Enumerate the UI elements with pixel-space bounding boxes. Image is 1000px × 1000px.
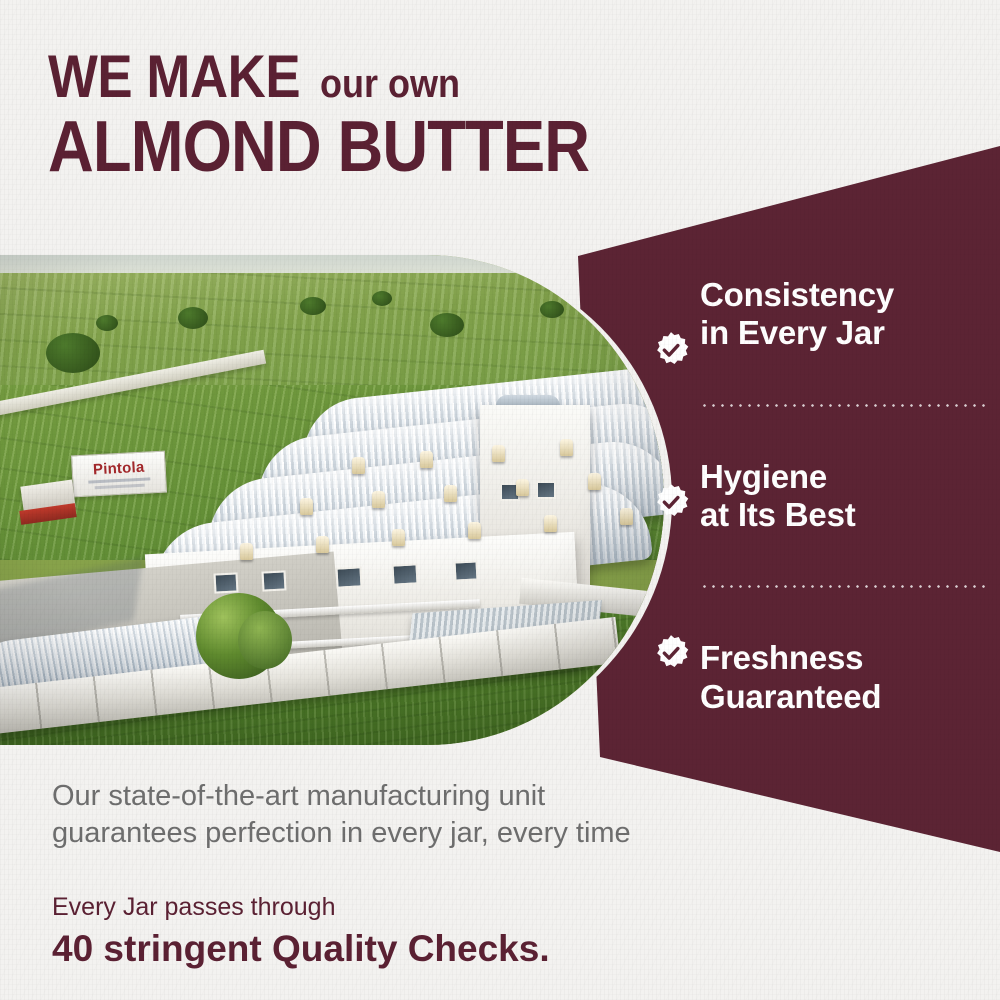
headline-row-1: WE MAKE our own <box>48 48 663 107</box>
footer-small-text: Every Jar passes through <box>52 892 550 922</box>
page-title: WE MAKE our own ALMOND BUTTER <box>48 48 663 183</box>
feature-list: Consistency in Every Jar Hygiene at Its … <box>700 276 990 716</box>
feature-divider <box>700 404 990 407</box>
check-badge-icon <box>652 331 690 369</box>
headline-we-make: WE MAKE <box>48 48 300 107</box>
photo-vignette <box>0 255 664 745</box>
feature-line-1: Hygiene <box>700 458 990 496</box>
body-copy-line-2: guarantees perfection in every jar, ever… <box>52 815 732 852</box>
headline-almond-butter: ALMOND BUTTER <box>48 111 589 183</box>
body-copy: Our state-of-the-art manufacturing unit … <box>52 778 732 851</box>
feature-line-2: in Every Jar <box>700 314 990 352</box>
feature-divider <box>700 585 990 588</box>
promo-poster: WE MAKE our own ALMOND BUTTER <box>0 0 1000 1000</box>
feature-line-1: Freshness <box>700 639 990 677</box>
feature-line-2: Guaranteed <box>700 678 990 716</box>
feature-line-2: at Its Best <box>700 496 990 534</box>
footer-big-text: 40 stringent Quality Checks. <box>52 926 550 971</box>
feature-item-freshness: Freshness Guaranteed <box>700 639 990 716</box>
body-copy-line-1: Our state-of-the-art manufacturing unit <box>52 778 732 815</box>
headline-our-own: our own <box>320 64 460 104</box>
check-badge-icon <box>652 634 690 672</box>
feature-item-consistency: Consistency in Every Jar <box>700 276 990 353</box>
footer-claim: Every Jar passes through 40 stringent Qu… <box>52 892 550 971</box>
feature-line-1: Consistency <box>700 276 990 314</box>
factory-photo: Pintola <box>0 255 672 745</box>
feature-item-hygiene: Hygiene at Its Best <box>700 458 990 535</box>
factory-photo-scene: Pintola <box>0 255 664 745</box>
check-badge-icon <box>652 483 690 521</box>
